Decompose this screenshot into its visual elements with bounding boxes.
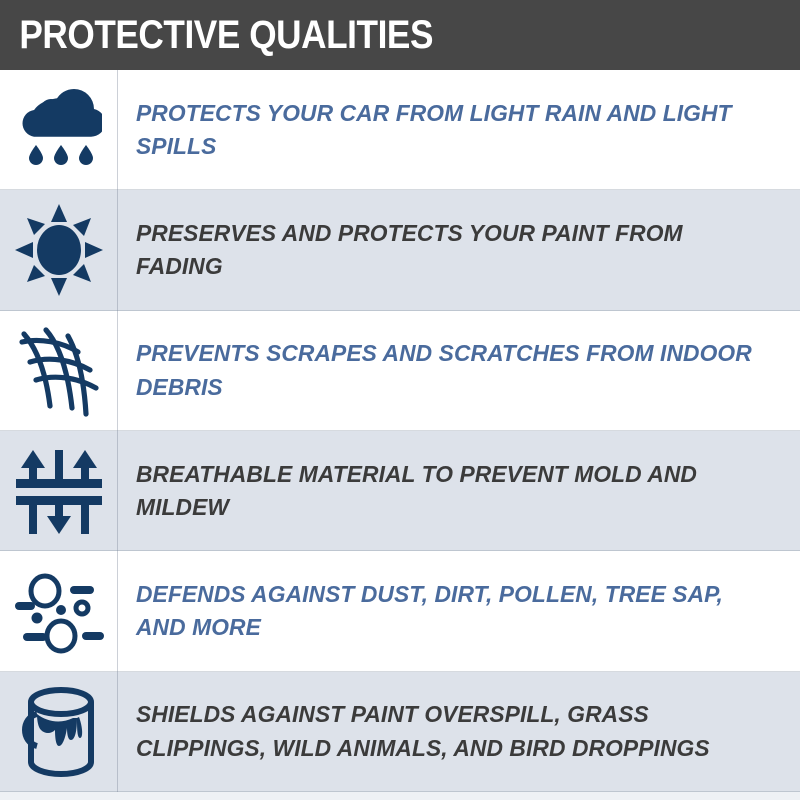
protective-qualities-infographic: PROTECTIVE QUALITIES PROTECTS YOUR CAR F…: [0, 0, 800, 800]
list-item: PROTECTS YOUR CAR FROM LIGHT RAIN AND LI…: [0, 70, 800, 190]
bottom-strip: [0, 792, 800, 800]
dust-particles-icon: [13, 566, 105, 656]
sun-icon: [15, 204, 103, 296]
list-item-label: PROTECTS YOUR CAR FROM LIGHT RAIN AND LI…: [136, 97, 763, 164]
list-item-label: PRESERVES AND PROTECTS YOUR PAINT FROM F…: [136, 217, 763, 284]
list-item: PRESERVES AND PROTECTS YOUR PAINT FROM F…: [0, 190, 800, 310]
icon-cell: [0, 311, 118, 431]
rain-cloud-icon: [16, 85, 102, 175]
text-cell: PROTECTS YOUR CAR FROM LIGHT RAIN AND LI…: [118, 70, 800, 190]
breathable-airflow-arrows-icon: [14, 446, 104, 536]
icon-cell: [0, 431, 118, 551]
paint-can-icon: [17, 684, 101, 780]
text-cell: SHIELDS AGAINST PAINT OVERSPILL, GRASS C…: [118, 672, 800, 792]
list-item: BREATHABLE MATERIAL TO PREVENT MOLD AND …: [0, 431, 800, 551]
text-cell: PREVENTS SCRAPES AND SCRATCHES FROM INDO…: [118, 311, 800, 431]
text-cell: DEFENDS AGAINST DUST, DIRT, POLLEN, TREE…: [118, 551, 800, 671]
list-item: SHIELDS AGAINST PAINT OVERSPILL, GRASS C…: [0, 672, 800, 792]
page-title: PROTECTIVE QUALITIES: [0, 15, 433, 55]
list-item-label: SHIELDS AGAINST PAINT OVERSPILL, GRASS C…: [136, 698, 763, 765]
icon-cell: [0, 70, 118, 190]
scratches-mesh-icon: [16, 322, 102, 420]
icon-cell: [0, 551, 118, 671]
text-cell: PRESERVES AND PROTECTS YOUR PAINT FROM F…: [118, 190, 800, 310]
header-bar: PROTECTIVE QUALITIES: [0, 0, 800, 70]
qualities-list: PROTECTS YOUR CAR FROM LIGHT RAIN AND LI…: [0, 70, 800, 792]
list-item-label: DEFENDS AGAINST DUST, DIRT, POLLEN, TREE…: [136, 578, 763, 645]
list-item: PREVENTS SCRAPES AND SCRATCHES FROM INDO…: [0, 311, 800, 431]
list-item: DEFENDS AGAINST DUST, DIRT, POLLEN, TREE…: [0, 551, 800, 671]
list-item-label: PREVENTS SCRAPES AND SCRATCHES FROM INDO…: [136, 337, 763, 404]
text-cell: BREATHABLE MATERIAL TO PREVENT MOLD AND …: [118, 431, 800, 551]
icon-cell: [0, 672, 118, 792]
list-item-label: BREATHABLE MATERIAL TO PREVENT MOLD AND …: [136, 458, 763, 525]
icon-cell: [0, 190, 118, 310]
